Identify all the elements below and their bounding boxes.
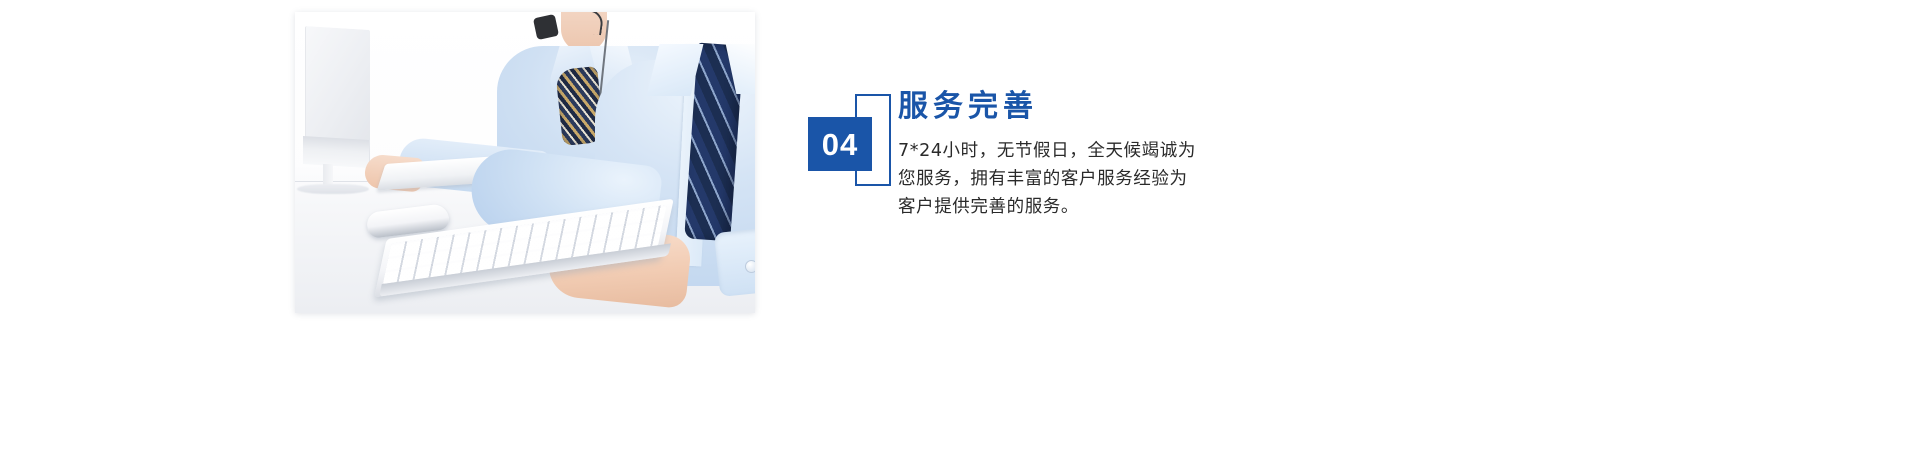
cuff-button bbox=[745, 260, 755, 273]
description-line-3: 客户提供完善的服务。 bbox=[898, 193, 1498, 221]
feature-heading: 服务完善 bbox=[898, 88, 1498, 126]
monitor-chin bbox=[303, 136, 369, 168]
service-feature-banner: 04 服务完善 7*24小时，无节假日，全天候竭诚为 您服务，拥有丰富的客户服务… bbox=[0, 0, 1920, 452]
description-line-1: 7*24小时，无节假日，全天候竭诚为 bbox=[898, 137, 1498, 165]
badge-number: 04 bbox=[822, 129, 858, 160]
feature-description: 7*24小时，无节假日，全天候竭诚为 您服务，拥有丰富的客户服务经验为 客户提供… bbox=[898, 137, 1498, 222]
photo-canvas bbox=[295, 12, 755, 313]
step-number-badge: 04 bbox=[808, 94, 892, 192]
headset-boom bbox=[552, 12, 605, 35]
feature-text-column: 服务完善 7*24小时，无节假日，全天候竭诚为 您服务，拥有丰富的客户服务经验为… bbox=[898, 88, 1498, 222]
monitor-base bbox=[297, 184, 369, 194]
service-photo bbox=[295, 12, 755, 313]
description-line-2: 您服务，拥有丰富的客户服务经验为 bbox=[898, 165, 1498, 193]
customer-service-agent-front bbox=[595, 60, 755, 300]
badge-filled-square: 04 bbox=[808, 117, 872, 171]
monitor-stand bbox=[323, 164, 333, 186]
